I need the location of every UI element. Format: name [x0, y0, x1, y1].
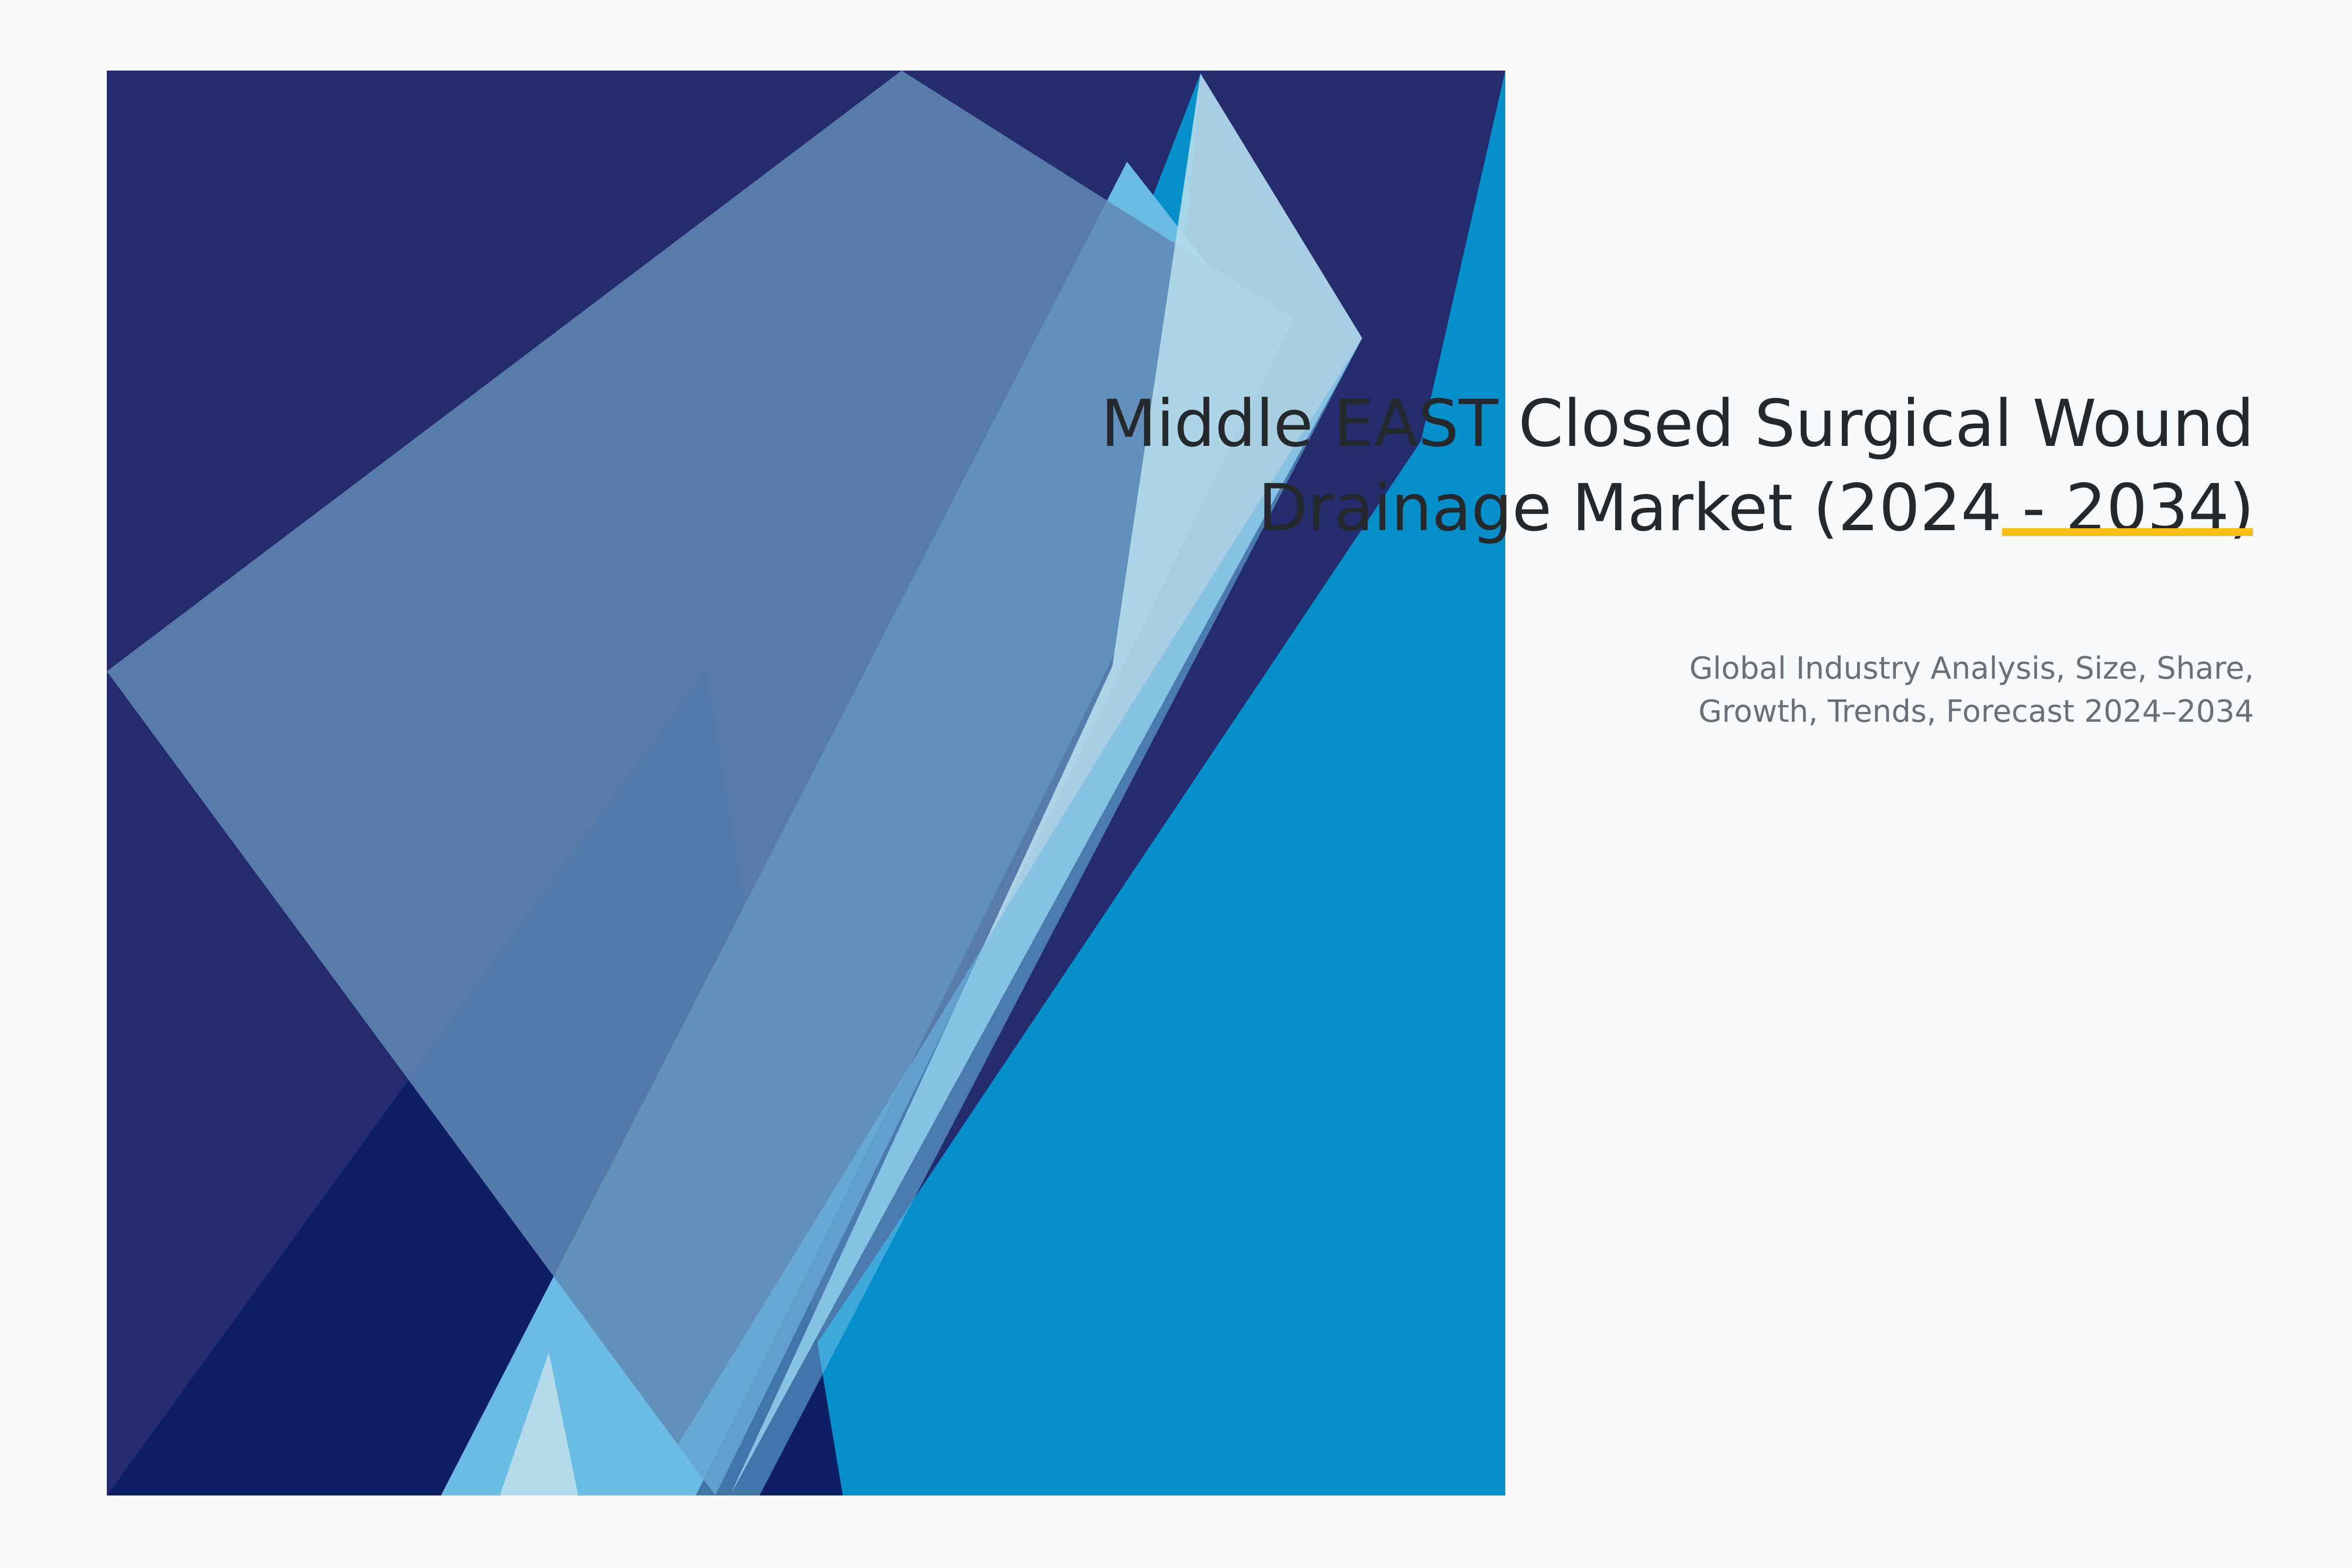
subtitle-line-2: Growth, Trends, Forecast 2024–2034	[1274, 690, 2254, 733]
page-subtitle: Global Industry Analysis, Size, Share, G…	[1274, 647, 2254, 733]
subtitle-line-1: Global Industry Analysis, Size, Share,	[1274, 647, 2254, 690]
title-line-1: Middle EAST Closed Surgical Wound	[833, 382, 2254, 466]
title-accent-underline	[2002, 528, 2253, 536]
title-line-2: Drainage Market (2024 - 2034)	[833, 466, 2254, 551]
page-title: Middle EAST Closed Surgical Wound Draina…	[833, 382, 2254, 550]
text-layer: Middle EAST Closed Surgical Wound Draina…	[0, 0, 2352, 1568]
cover-page: Middle EAST Closed Surgical Wound Draina…	[0, 0, 2352, 1568]
